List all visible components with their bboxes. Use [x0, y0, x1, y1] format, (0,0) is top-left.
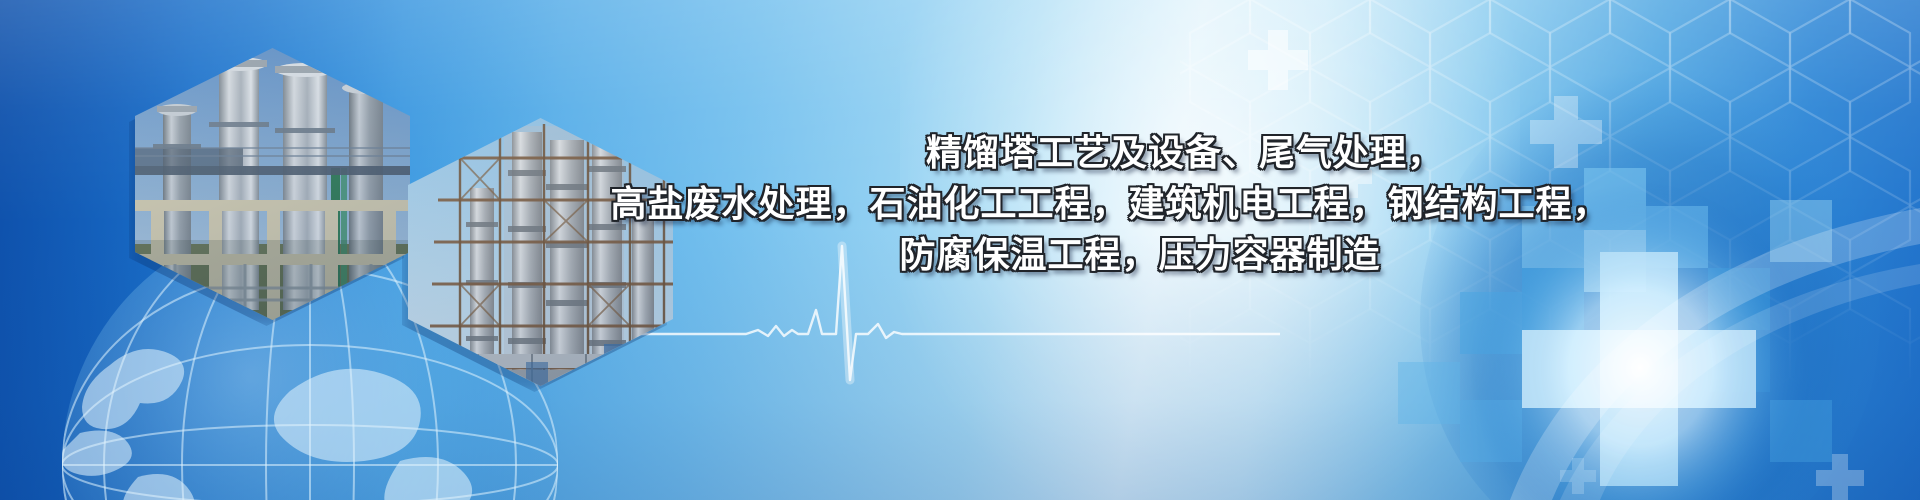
headline-block: 精馏塔工艺及设备、尾气处理， 高盐废水处理，石油化工工程，建筑机电工程，钢结构工…	[600, 128, 1620, 281]
hero-banner: 精馏塔工艺及设备、尾气处理， 高盐废水处理，石油化工工程，建筑机电工程，钢结构工…	[0, 0, 1920, 500]
headline-line-3: 防腐保温工程，压力容器制造	[660, 230, 1620, 281]
headline-line-2: 高盐废水处理，石油化工工程，建筑机电工程，钢结构工程，	[600, 179, 1620, 230]
headline-line-1: 精馏塔工艺及设备、尾气处理，	[750, 128, 1620, 179]
